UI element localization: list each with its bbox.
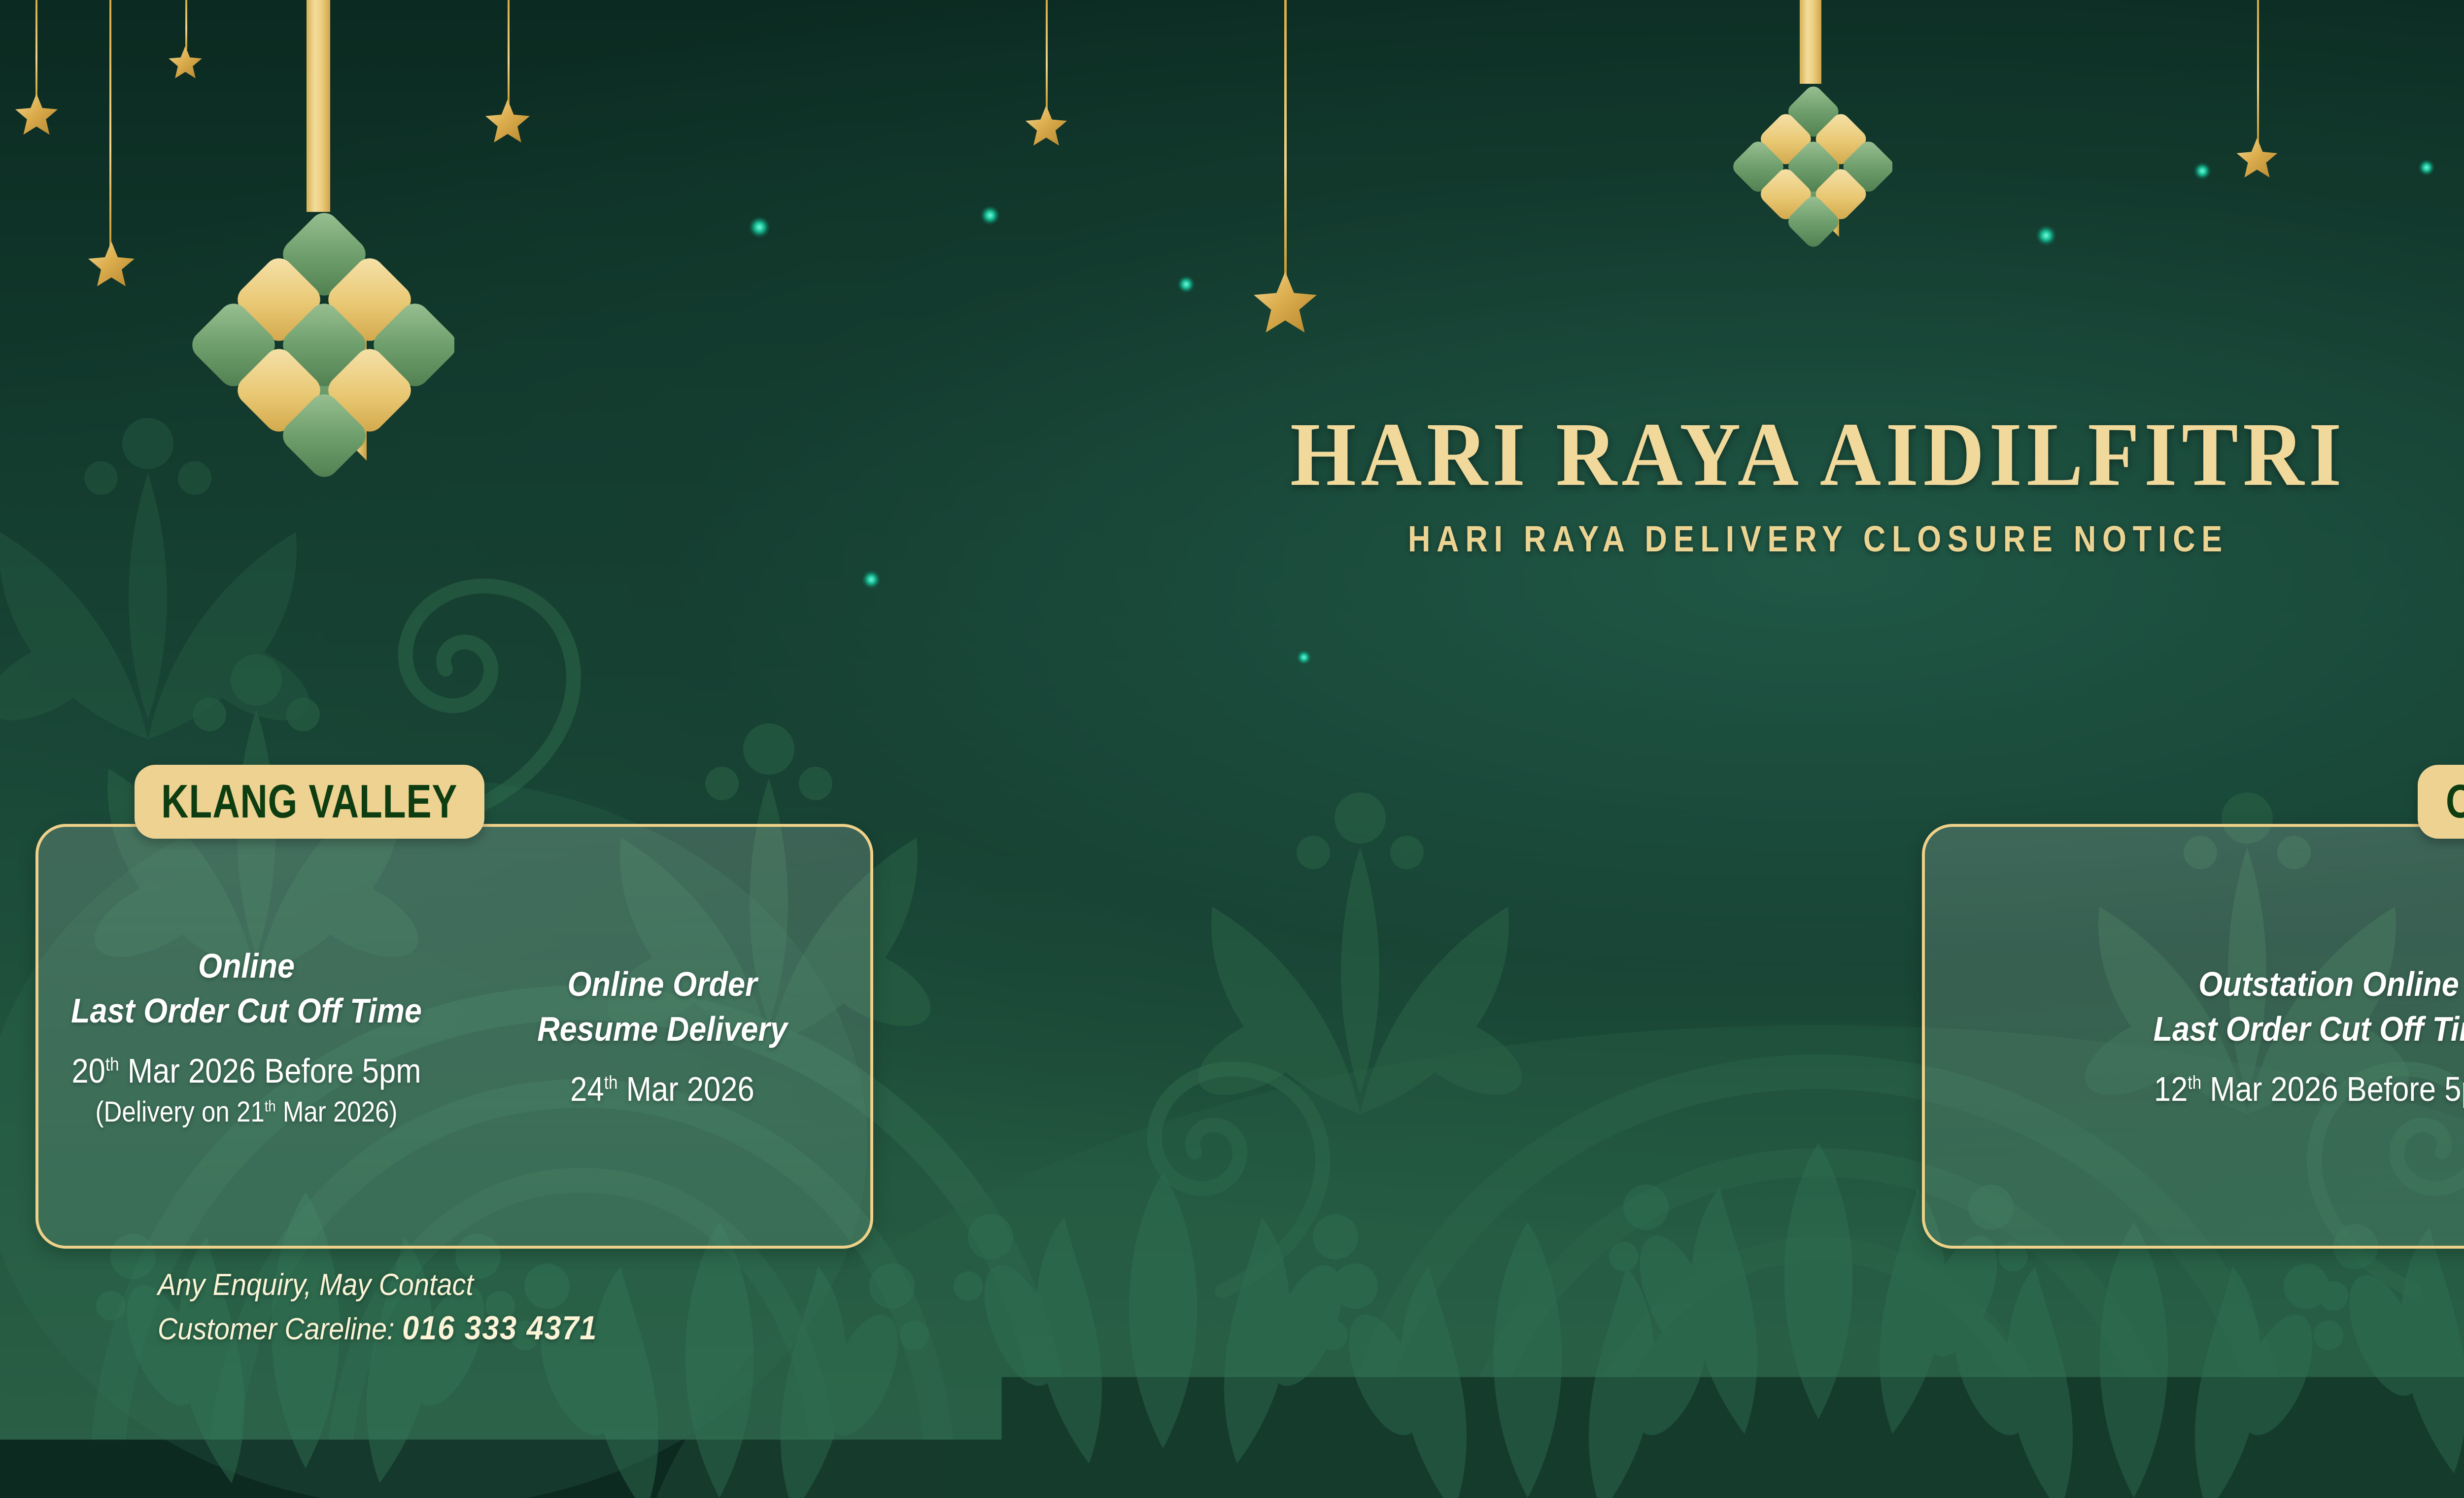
star-thread bbox=[1284, 0, 1287, 276]
ketupat-icon bbox=[1725, 64, 1892, 251]
outstation-cutoff-column: Outstation Online Last Order Cut Off Tim… bbox=[1925, 962, 2464, 1110]
column-heading-line1: Outstation Online bbox=[1973, 962, 2464, 1007]
klang-valley-card: KLANG VALLEY Online Last Order Cut Off T… bbox=[35, 824, 873, 1249]
glow-dot bbox=[862, 571, 880, 588]
page-title: HARI RAYA AIDILFITRI bbox=[127, 409, 2464, 500]
glow-dot bbox=[1297, 650, 1311, 664]
column-heading-line2: Last Order Cut Off Time bbox=[67, 988, 425, 1033]
date-ordinal: th bbox=[2188, 1073, 2201, 1093]
contact-block: Any Enquiry, May Contact Customer Careli… bbox=[158, 1266, 646, 1349]
enquiry-text: Any Enquiry, May Contact bbox=[158, 1266, 597, 1304]
column-heading-line2: Resume Delivery bbox=[483, 1007, 841, 1052]
headline-block: HARI RAYA AIDILFITRI HARI RAYA DELIVERY … bbox=[0, 409, 2464, 557]
ketupat-ribbon bbox=[307, 0, 330, 212]
star-icon bbox=[168, 45, 203, 79]
date-day: 20 bbox=[71, 1052, 105, 1090]
star-thread bbox=[1046, 0, 1048, 109]
klang-valley-cutoff-column: Online Last Order Cut Off Time 20th Mar … bbox=[38, 944, 454, 1129]
outstation-card: OUTSTATION Outstation Online Last Order … bbox=[1922, 824, 2464, 1249]
careline-label: Customer Careline: bbox=[158, 1312, 402, 1346]
glow-dot bbox=[2194, 163, 2211, 179]
column-date: 24th Mar 2026 bbox=[487, 1068, 837, 1110]
star-icon bbox=[2235, 137, 2279, 179]
column-delivery-note: (Delivery on 21th Mar 2026) bbox=[71, 1095, 421, 1129]
date-ordinal: th bbox=[604, 1073, 618, 1093]
note-suffix: Mar 2026) bbox=[276, 1096, 398, 1128]
careline-number[interactable]: 016 333 4371 bbox=[402, 1309, 597, 1347]
star-thread bbox=[109, 0, 111, 246]
glow-dot bbox=[2419, 160, 2434, 175]
glow-dot bbox=[981, 206, 999, 225]
date-day: 12 bbox=[2154, 1070, 2188, 1108]
page-subtitle: HARI RAYA DELIVERY CLOSURE NOTICE bbox=[273, 521, 2464, 557]
badge-klang-valley: KLANG VALLEY bbox=[135, 765, 484, 839]
star-thread bbox=[185, 0, 187, 49]
star-icon bbox=[14, 93, 59, 136]
badge-outstation: OUTSTATION bbox=[2418, 765, 2464, 839]
column-date: 12th Mar 2026 Before 5pm bbox=[1981, 1068, 2464, 1110]
star-thread bbox=[508, 0, 510, 103]
column-heading-line2: Last Order Cut Off Time bbox=[1973, 1007, 2464, 1052]
column-date: 20th Mar 2026 Before 5pm bbox=[71, 1050, 421, 1092]
klang-valley-resume-column: Online Order Resume Delivery 24th Mar 20… bbox=[454, 962, 870, 1110]
star-thread bbox=[35, 0, 37, 99]
star-icon bbox=[87, 240, 136, 288]
note-prefix: (Delivery on 21 bbox=[95, 1096, 264, 1128]
badge-label: OUTSTATION bbox=[2446, 778, 2464, 825]
column-heading-line1: Online Order bbox=[483, 962, 841, 1007]
star-icon bbox=[1252, 270, 1319, 335]
star-icon bbox=[484, 99, 531, 144]
glow-dot bbox=[749, 217, 770, 238]
hari-raya-banner: HARI RAYA AIDILFITRI HARI RAYA DELIVERY … bbox=[0, 0, 2464, 1498]
careline-row: Customer Careline: 016 333 4371 bbox=[158, 1308, 597, 1349]
date-rest: Mar 2026 bbox=[617, 1070, 754, 1108]
date-day: 24 bbox=[570, 1070, 604, 1108]
badge-label: KLANG VALLEY bbox=[161, 778, 457, 825]
star-thread bbox=[2257, 0, 2259, 143]
date-ordinal: th bbox=[105, 1054, 119, 1075]
date-rest: Mar 2026 Before 5pm bbox=[119, 1052, 421, 1090]
date-rest: Mar 2026 Before 5pm bbox=[2201, 1070, 2464, 1108]
glow-dot bbox=[1178, 276, 1195, 293]
column-heading-line1: Online bbox=[67, 944, 425, 988]
star-icon bbox=[1024, 104, 1068, 147]
note-ordinal: th bbox=[265, 1098, 276, 1115]
glow-dot bbox=[2036, 226, 2056, 245]
